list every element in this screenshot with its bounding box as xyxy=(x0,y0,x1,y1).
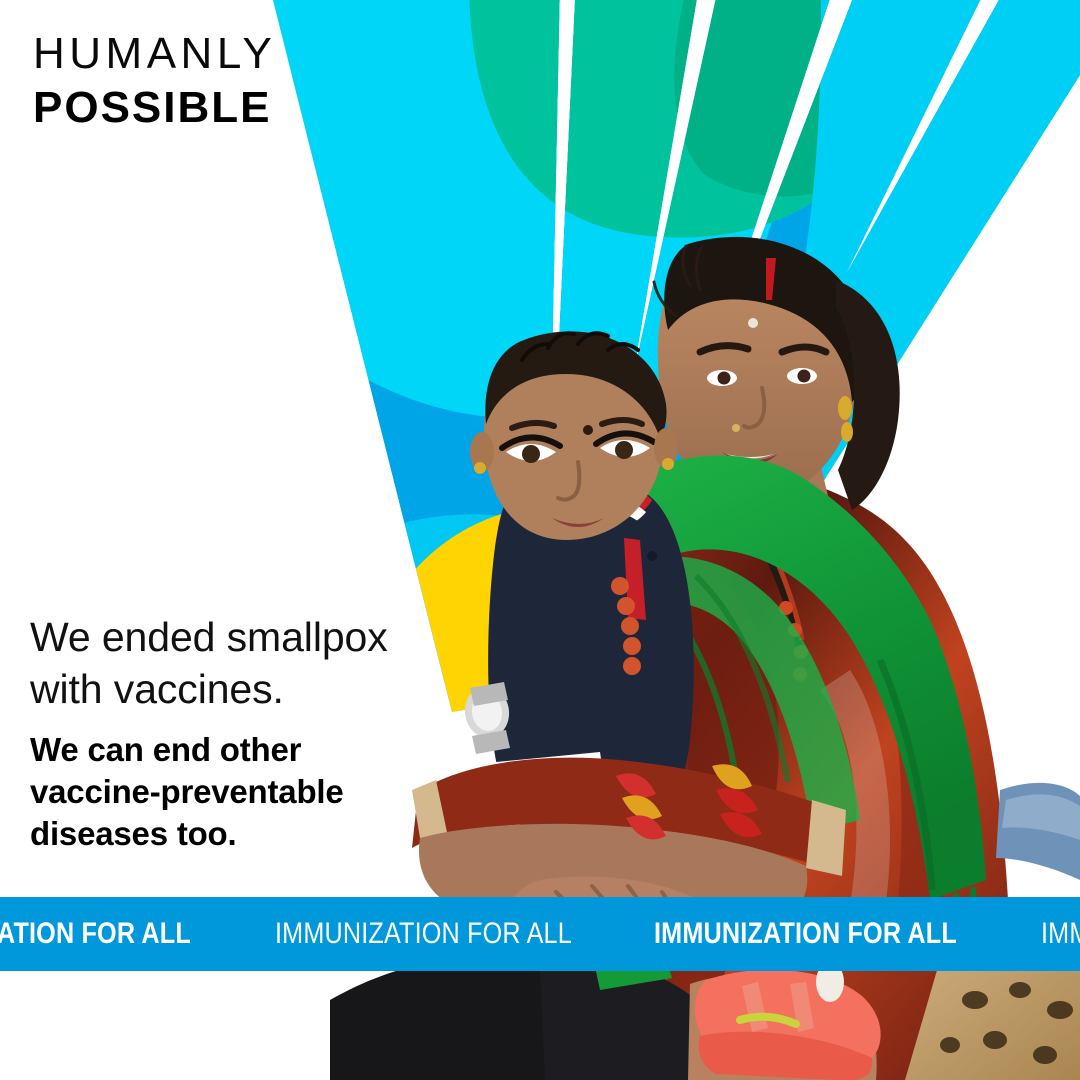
humanly-possible-logo: HUMANLY POSSIBLE xyxy=(33,32,276,130)
banner-slogan: IMMUNIZATION FOR ALL xyxy=(654,919,979,949)
immunization-for-all-banner: IMMUNIZATION FOR ALL IMMUNIZATION FOR AL… xyxy=(0,897,1080,971)
banner-slogan: IMMUNIZATION FOR ALL xyxy=(1041,919,1080,949)
headline-bold-text: We can end other vaccine-preventable dis… xyxy=(30,729,420,855)
poster-canvas: HUMANLY POSSIBLE We ended smallpox with … xyxy=(0,0,1080,1080)
logo-line-possible: POSSIBLE xyxy=(33,86,276,130)
banner-ticker-track: IMMUNIZATION FOR ALL IMMUNIZATION FOR AL… xyxy=(0,919,1080,949)
banner-slogan: IMMUNIZATION FOR ALL xyxy=(0,919,213,949)
banner-slogan: IMMUNIZATION FOR ALL xyxy=(275,919,594,949)
logo-line-humanly: HUMANLY xyxy=(33,32,276,76)
headline-light-text: We ended smallpox with vaccines. xyxy=(30,612,420,715)
headline-block: We ended smallpox with vaccines. We can … xyxy=(30,612,420,855)
